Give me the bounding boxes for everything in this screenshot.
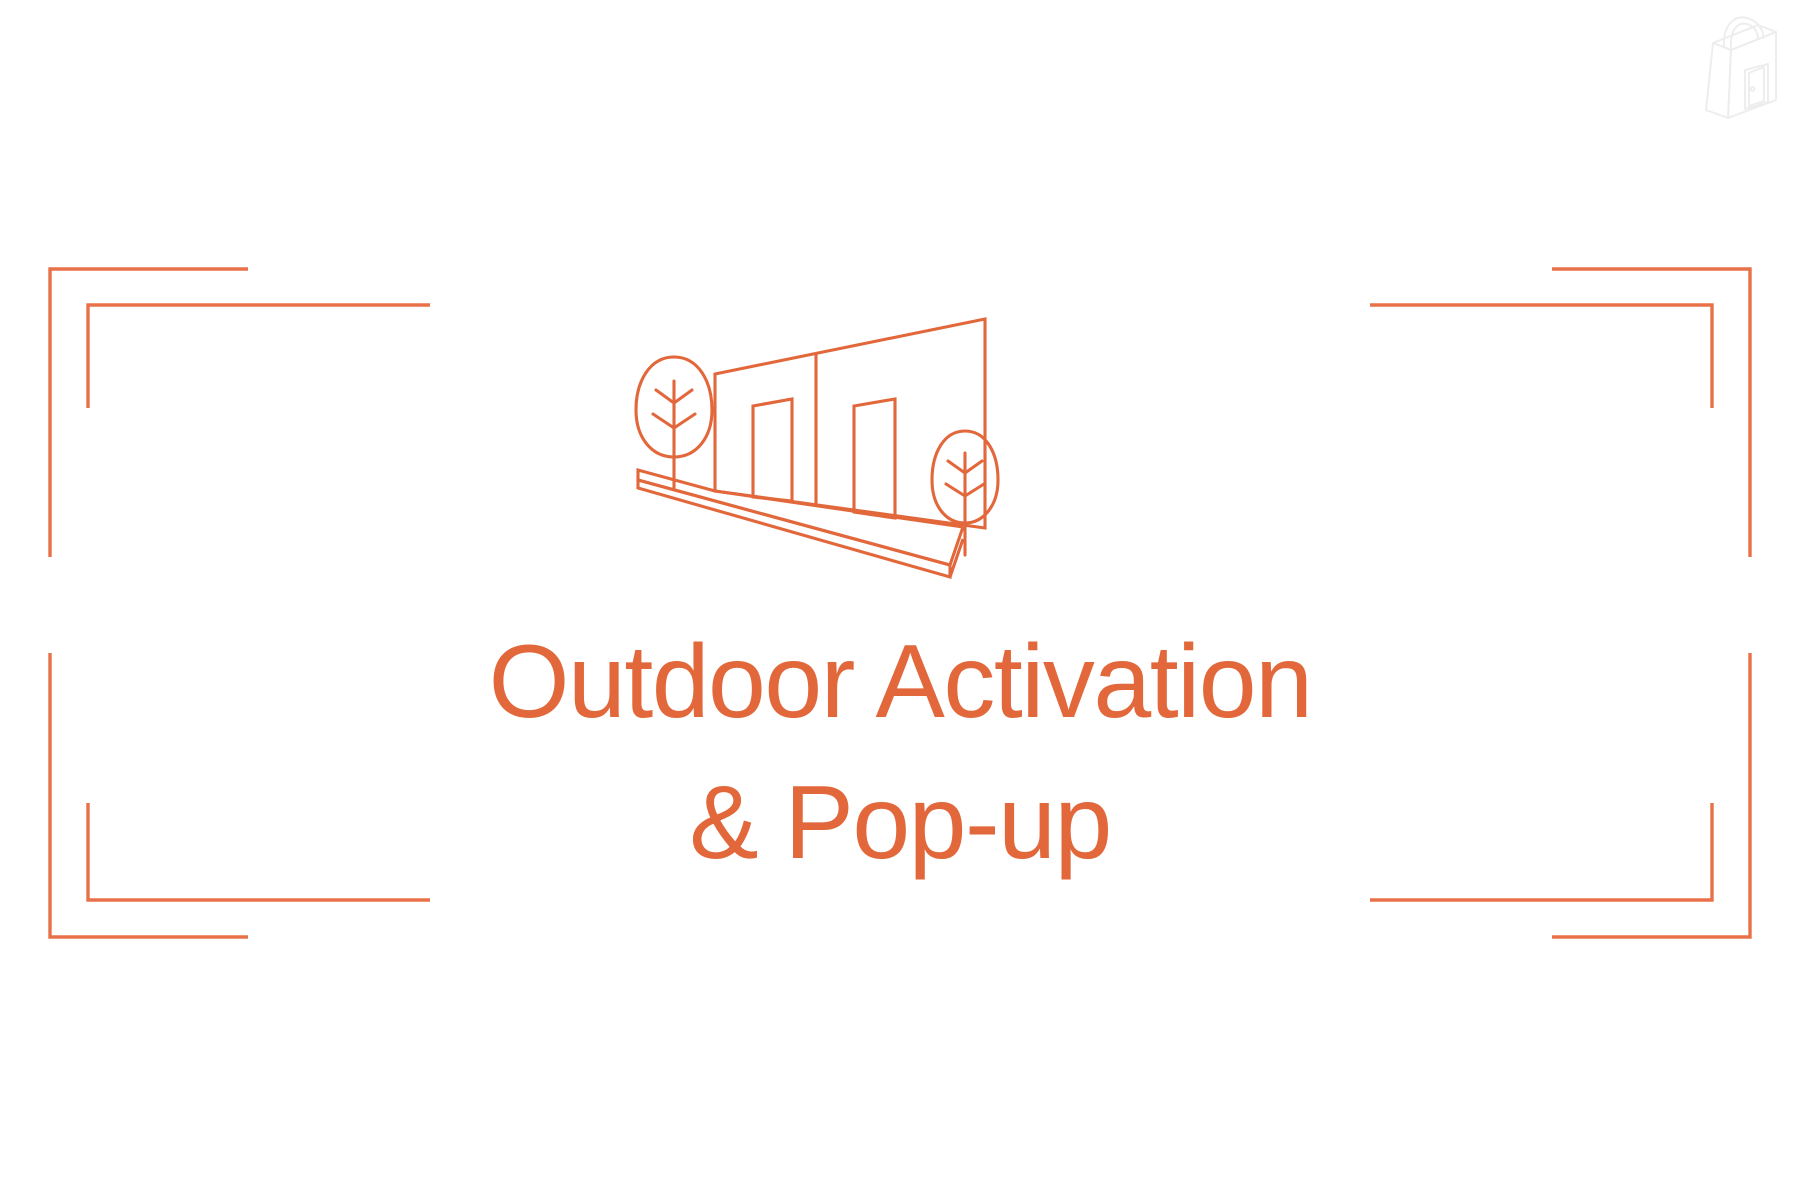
tree-left	[636, 357, 712, 490]
bracket-top-right-outer	[1552, 269, 1750, 557]
door-left	[753, 399, 792, 501]
page-title: Outdoor Activation & Pop-up	[0, 612, 1800, 894]
slide-canvas: Outdoor Activation & Pop-up	[0, 0, 1800, 1200]
page-title-line-1: Outdoor Activation	[0, 612, 1800, 753]
bracket-top-left-outer	[50, 269, 248, 557]
bracket-top-right-inner	[1370, 305, 1712, 408]
page-title-line-2: & Pop-up	[0, 753, 1800, 894]
shopping-bag-storefront-icon	[1690, 10, 1790, 120]
bracket-top-left-inner	[88, 305, 430, 408]
sidewalk-platform-face	[638, 480, 950, 577]
outdoor-storefront-illustration	[620, 315, 1180, 615]
tree-right	[932, 431, 998, 555]
door-right	[854, 399, 895, 518]
